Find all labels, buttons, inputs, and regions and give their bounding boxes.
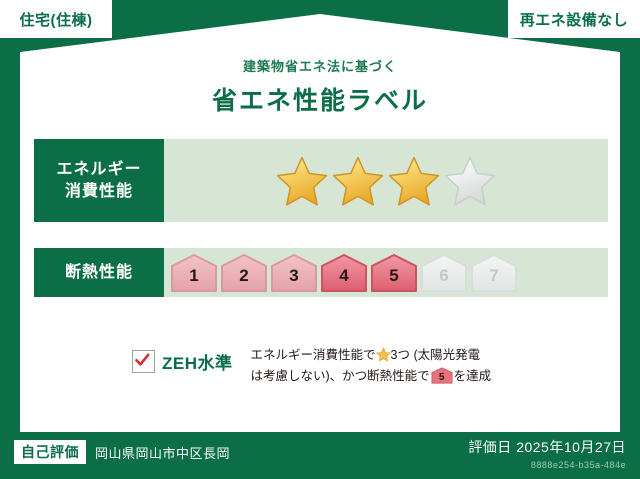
self-evaluation-badge: 自己評価 (14, 440, 86, 464)
zeh-desc-part2: は考慮しない)、かつ断熱性能で (251, 369, 430, 383)
inline-star-icon (376, 347, 391, 362)
insulation-performance-label: 断熱性能 (34, 248, 164, 297)
insulation-level-number: 7 (470, 266, 518, 286)
star-filled-icon (276, 155, 328, 207)
label-title-block: 建築物省エネ法に基づく 省エネ性能ラベル (0, 56, 640, 117)
insulation-level-badge: 1 (170, 253, 218, 293)
insulation-performance-row: 断熱性能 1234567 (34, 248, 608, 297)
insulation-performance-label-text: 断熱性能 (65, 262, 133, 284)
star-filled-icon (388, 155, 440, 207)
zeh-check-group: ZEH水準 (132, 349, 233, 374)
insulation-level-number: 1 (170, 266, 218, 286)
energy-consumption-label: エネルギー 消費性能 (34, 139, 164, 222)
building-type-tag-label: 住宅(住棟) (20, 9, 93, 30)
building-type-tag: 住宅(住棟) (0, 0, 112, 38)
energy-consumption-label-line1: エネルギー (56, 159, 141, 181)
evaluation-date: 評価日 2025年10月27日 (468, 437, 626, 457)
insulation-level-number: 6 (420, 266, 468, 286)
insulation-level-badge: 2 (220, 253, 268, 293)
insulation-performance-panel: 1234567 (164, 248, 608, 297)
insulation-level-badge: 4 (320, 253, 368, 293)
title-main: 省エネ性能ラベル (0, 81, 640, 117)
star-empty-icon (444, 155, 496, 207)
label-footer: 自己評価 岡山県岡山市中区長岡 評価日 2025年10月27日 8888e254… (0, 432, 640, 479)
zeh-desc-star-text: 3つ (太陽光発電 (391, 348, 481, 362)
property-address: 岡山県岡山市中区長岡 (95, 443, 230, 462)
zeh-checkbox (132, 350, 155, 373)
insulation-level-badge: 7 (470, 253, 518, 293)
renewable-energy-tag-label: 再エネ設備なし (520, 9, 629, 30)
insulation-level-badge: 5 (370, 253, 418, 293)
zeh-label: ZEH水準 (162, 349, 233, 374)
insulation-level-number: 5 (370, 266, 418, 286)
star-rating (276, 155, 496, 207)
energy-consumption-label-line2: 消費性能 (65, 181, 133, 203)
renewable-energy-tag: 再エネ設備なし (508, 0, 640, 38)
zeh-desc-part3: を達成 (454, 369, 492, 383)
insulation-level-number: 2 (220, 266, 268, 286)
insulation-level-badge: 6 (420, 253, 468, 293)
star-filled-icon (332, 155, 384, 207)
evaluation-date-group: 評価日 2025年10月27日 8888e254-b35a-484e (468, 437, 626, 470)
inline-level-badge: 5 (431, 367, 453, 384)
zeh-desc-part1: エネルギー消費性能で (251, 348, 376, 362)
zeh-standard-row: ZEH水準 エネルギー消費性能で3つ (太陽光発電は考慮しない)、かつ断熱性能で… (34, 345, 608, 391)
inline-level-badge-num: 5 (431, 370, 453, 387)
insulation-level-number: 3 (270, 266, 318, 286)
evaluation-id: 8888e254-b35a-484e (468, 460, 626, 470)
check-icon (135, 353, 150, 368)
energy-consumption-panel (164, 139, 608, 222)
zeh-description: エネルギー消費性能で3つ (太陽光発電は考慮しない)、かつ断熱性能で5を達成 (251, 345, 492, 386)
title-subtitle: 建築物省エネ法に基づく (0, 56, 640, 75)
insulation-level-scale: 1234567 (170, 253, 518, 293)
self-evaluation-group: 自己評価 岡山県岡山市中区長岡 (14, 440, 230, 464)
insulation-level-number: 4 (320, 266, 368, 286)
energy-performance-label: 住宅(住棟) 再エネ設備なし 建築物省エネ法に基づく 省エネ性能ラベル エネルギ… (0, 0, 640, 479)
insulation-level-badge: 3 (270, 253, 318, 293)
energy-consumption-row: エネルギー 消費性能 (34, 139, 608, 222)
